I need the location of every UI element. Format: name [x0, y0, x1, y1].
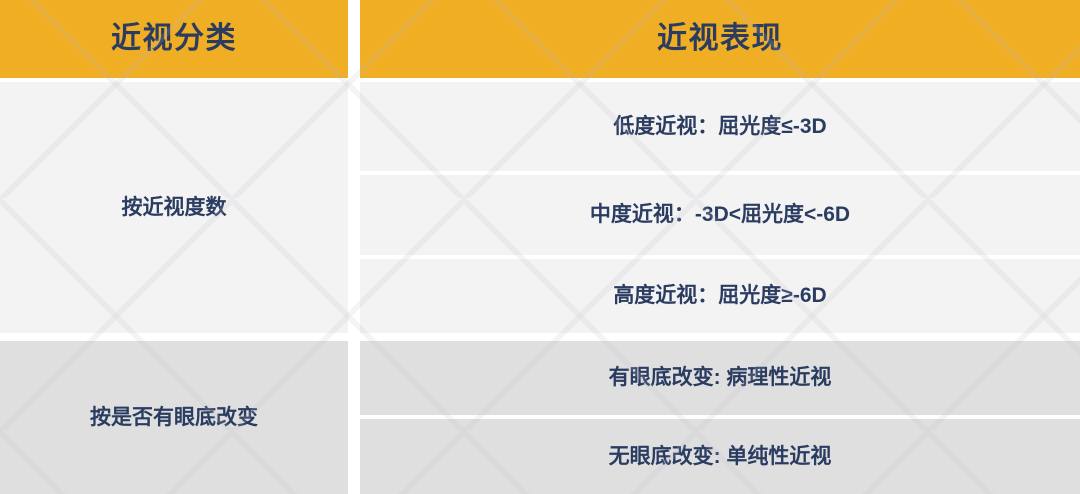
header-cell-category: 近视分类: [0, 0, 348, 78]
category-cell-by-degree: 按近视度数: [0, 82, 348, 333]
header-cell-manifestation: 近视表现: [360, 0, 1080, 78]
manifestation-moderate-myopia: 中度近视：-3D<屈光度<-6D: [590, 202, 850, 227]
myopia-classification-table: 近视分类 近视表现 按近视度数 低度近视：屈光度≤-3D 中度近视：-3D<屈光…: [0, 0, 1080, 494]
table-row: 高度近视：屈光度≥-6D: [360, 259, 1080, 333]
table-row: 低度近视：屈光度≤-3D: [360, 82, 1080, 171]
manifestation-low-myopia: 低度近视：屈光度≤-3D: [613, 114, 826, 139]
manifestation-simple-myopia: 无眼底改变: 单纯性近视: [609, 444, 832, 469]
table-row: 中度近视：-3D<屈光度<-6D: [360, 175, 1080, 255]
category-cell-by-fundus-change: 按是否有眼底改变: [0, 341, 348, 494]
category-label-by-fundus-change: 按是否有眼底改变: [90, 405, 258, 430]
manifestation-high-myopia: 高度近视：屈光度≥-6D: [613, 283, 826, 308]
header-label-category: 近视分类: [111, 24, 237, 54]
category-label-by-degree: 按近视度数: [122, 195, 227, 220]
table-header-row: 近视分类 近视表现: [0, 0, 1080, 78]
manifestation-pathologic-myopia: 有眼底改变: 病理性近视: [609, 365, 832, 390]
table-row: 有眼底改变: 病理性近视: [360, 341, 1080, 415]
header-label-manifestation: 近视表现: [657, 24, 783, 54]
table-row: 无眼底改变: 单纯性近视: [360, 419, 1080, 494]
